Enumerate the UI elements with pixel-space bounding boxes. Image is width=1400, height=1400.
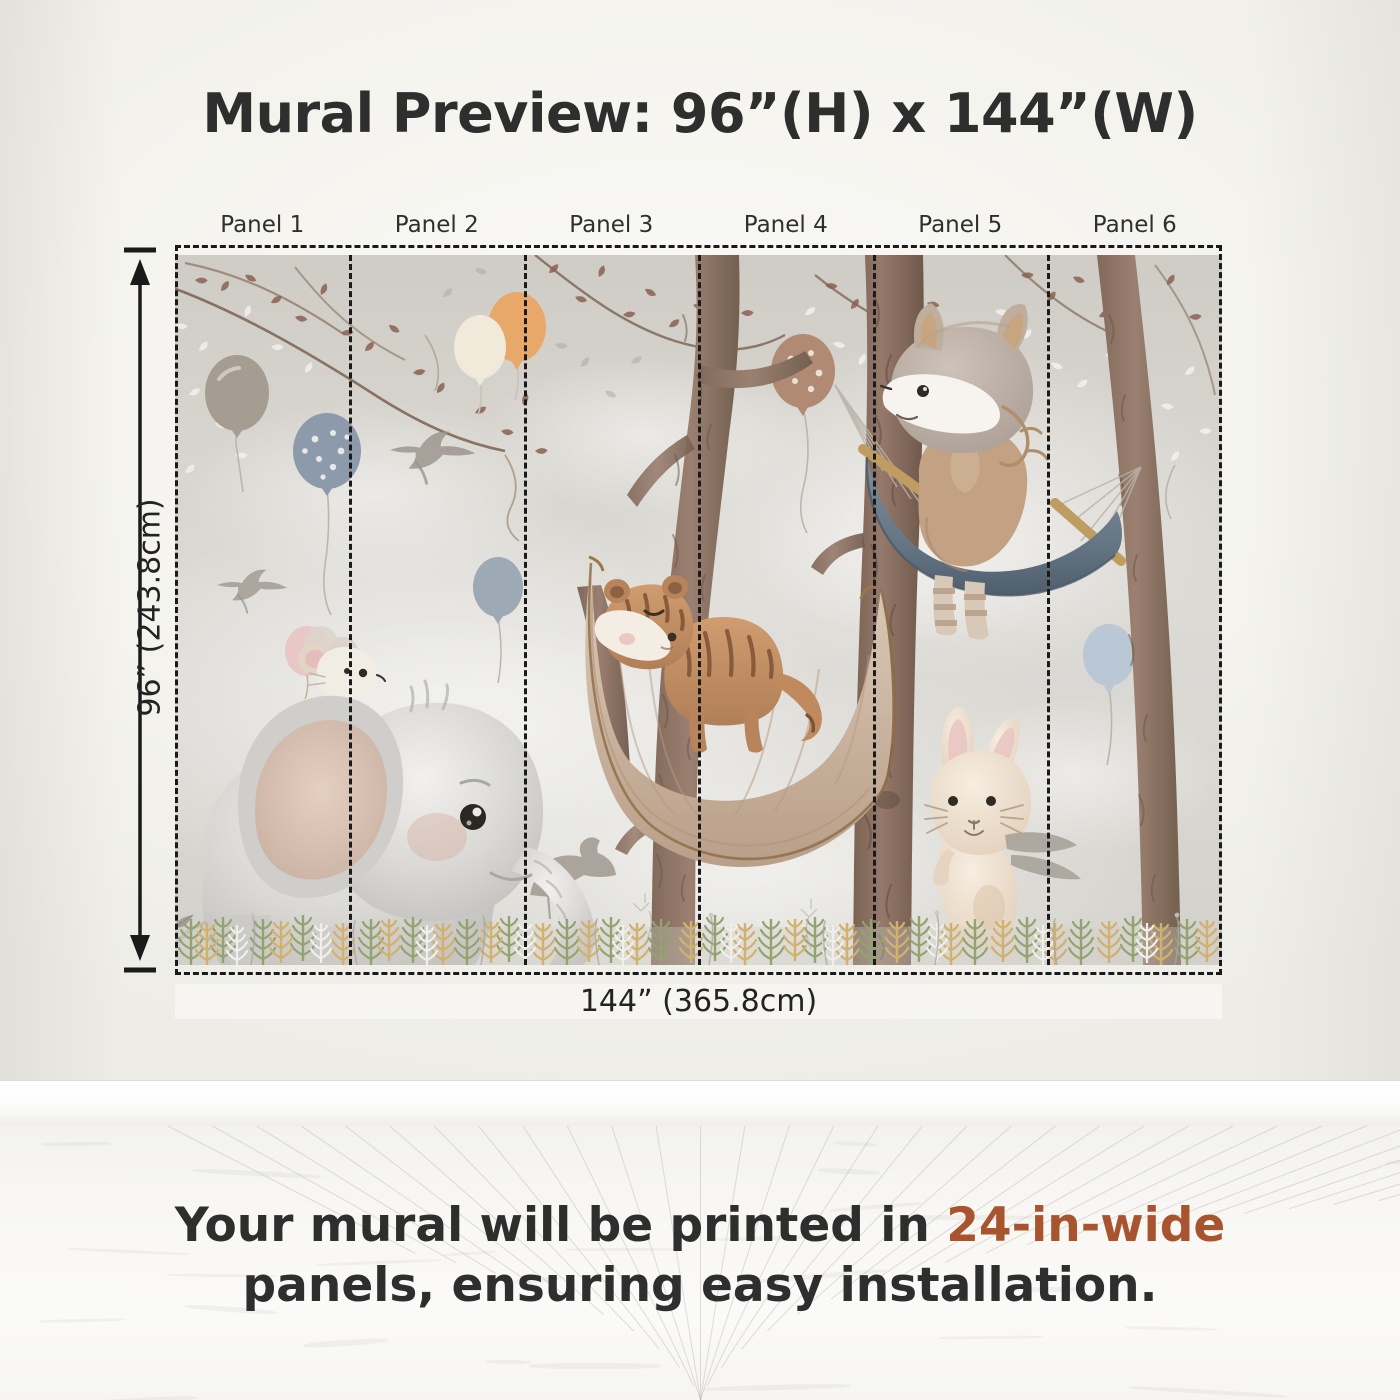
panel-label-1: Panel 1: [175, 212, 350, 246]
floor-grain: [80, 1395, 198, 1400]
wall-shadow-right: [1250, 0, 1400, 1080]
wall-shadow-left: [0, 0, 120, 1080]
width-dimension-label: 144” (365.8cm): [175, 984, 1222, 1019]
panel-label-6: Panel 6: [1048, 212, 1223, 246]
floor-grain: [939, 1336, 1043, 1340]
floor-grain: [529, 1363, 660, 1369]
page-title: Mural Preview: 96”(H) x 144”(W): [0, 82, 1400, 145]
panel-label-2: Panel 2: [350, 212, 525, 246]
height-dimension-label: 96” (243.8cm): [133, 348, 168, 868]
floor-grain: [303, 1338, 388, 1349]
floor-grain: [817, 1167, 879, 1174]
floor-grain: [702, 1383, 850, 1392]
printing-note-prefix: Your mural will be printed in: [175, 1198, 946, 1253]
floor-grain: [192, 1168, 321, 1180]
panel-label-3: Panel 3: [524, 212, 699, 246]
floor-grain: [41, 1142, 112, 1147]
height-dimension: 96” (243.8cm): [110, 245, 170, 975]
printing-note-accent: 24-in-wide: [946, 1198, 1225, 1253]
floor-grain: [833, 1141, 878, 1147]
floor-grain: [1125, 1326, 1218, 1332]
floor-grain: [485, 1360, 532, 1365]
panel-label-row: Panel 1 Panel 2 Panel 3 Panel 4 Panel 5 …: [175, 212, 1222, 246]
printing-note: Your mural will be printed in 24-in-wide…: [0, 1196, 1400, 1316]
panel-label-4: Panel 4: [699, 212, 874, 246]
panel-label-5: Panel 5: [873, 212, 1048, 246]
floor-grain: [1130, 1385, 1287, 1398]
printing-note-line-2: panels, ensuring easy installation.: [0, 1256, 1400, 1316]
mural-preview-image: [175, 255, 1222, 965]
floor-grain: [39, 1318, 126, 1323]
baseboard: [0, 1080, 1400, 1126]
width-dimension: 144” (365.8cm): [175, 988, 1222, 1038]
printing-note-line-1: Your mural will be printed in 24-in-wide: [0, 1196, 1400, 1256]
